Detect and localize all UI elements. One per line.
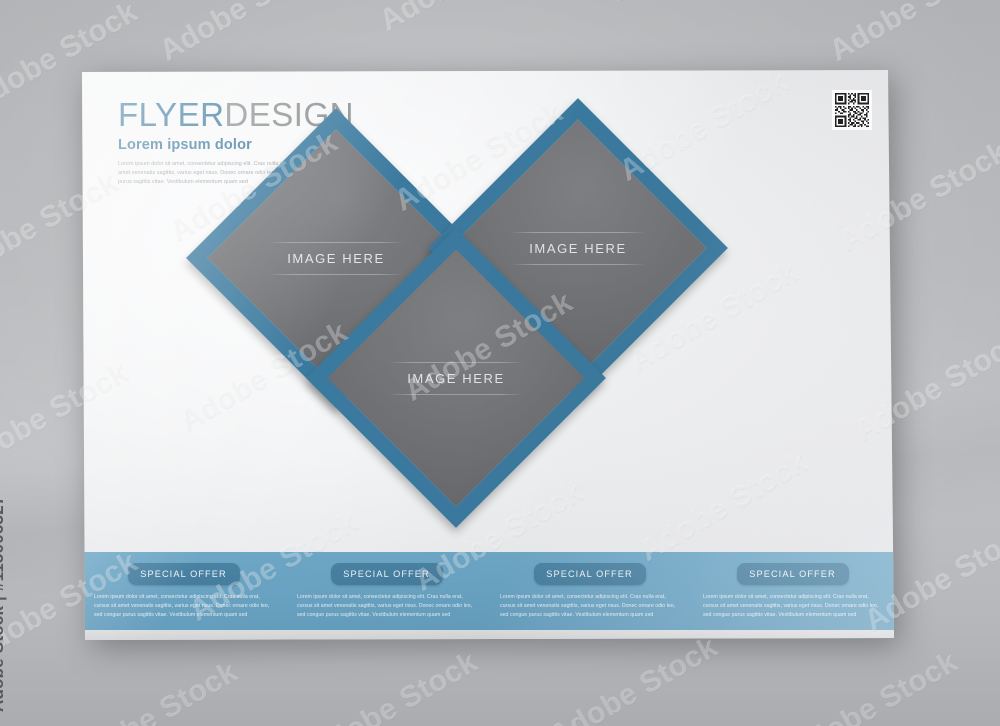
special-offer-button[interactable]: SPECIAL OFFER bbox=[737, 563, 849, 585]
offer-body-text: Lorem ipsum dolor sit amet, consectetur … bbox=[500, 593, 679, 620]
offer-column: SPECIAL OFFER Lorem ipsum dolor sit amet… bbox=[82, 563, 285, 620]
offer-column: SPECIAL OFFER Lorem ipsum dolor sit amet… bbox=[285, 563, 488, 620]
image-placeholder-label: IMAGE HERE bbox=[514, 232, 642, 265]
flyer-sheet-wrapper: FLYERDESIGN Lorem ipsum dolor Lorem ipsu… bbox=[82, 70, 894, 640]
image-placeholder-label: IMAGE HERE bbox=[272, 242, 400, 275]
special-offer-button[interactable]: SPECIAL OFFER bbox=[534, 563, 646, 585]
offer-body-text: Lorem ipsum dolor sit amet, consectetur … bbox=[94, 593, 273, 620]
special-offer-band: SPECIAL OFFER Lorem ipsum dolor sit amet… bbox=[82, 552, 894, 630]
qr-code-icon[interactable] bbox=[832, 90, 872, 130]
image-placeholder-bottom-inner: IMAGE HERE bbox=[365, 287, 547, 469]
flyer-sheet: FLYERDESIGN Lorem ipsum dolor Lorem ipsu… bbox=[82, 70, 894, 640]
offer-body-text: Lorem ipsum dolor sit amet, consectetur … bbox=[703, 593, 882, 620]
special-offer-button[interactable]: SPECIAL OFFER bbox=[128, 563, 240, 585]
sheet-bottom-strip bbox=[82, 630, 894, 640]
image-placeholder-label: IMAGE HERE bbox=[392, 362, 520, 395]
special-offer-button[interactable]: SPECIAL OFFER bbox=[331, 563, 443, 585]
offer-column: SPECIAL OFFER Lorem ipsum dolor sit amet… bbox=[691, 563, 894, 620]
stock-id-caption: Adobe Stock | #115006327 bbox=[0, 495, 8, 712]
image-placeholder-cluster: IMAGE HERE IMAGE HERE IMAGE HERE bbox=[222, 130, 752, 540]
offer-body-text: Lorem ipsum dolor sit amet, consectetur … bbox=[297, 593, 476, 620]
screenshot-stage: FLYERDESIGN Lorem ipsum dolor Lorem ipsu… bbox=[0, 0, 1000, 726]
qr-code-glyph bbox=[835, 93, 869, 127]
offer-column: SPECIAL OFFER Lorem ipsum dolor sit amet… bbox=[488, 563, 691, 620]
title-primary: FLYER bbox=[118, 96, 224, 133]
